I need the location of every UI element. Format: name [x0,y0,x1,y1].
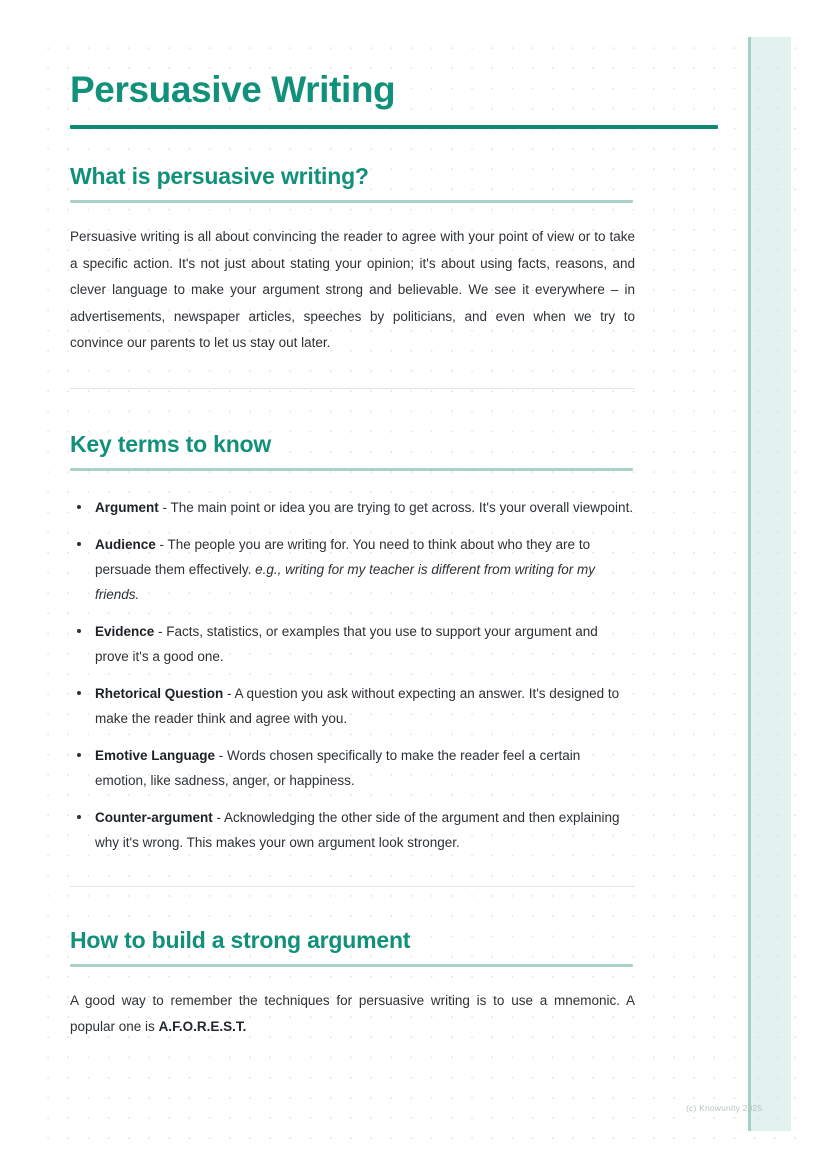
term-dash: - [154,624,166,639]
list-item: Counter-argument - Acknowledging the oth… [70,805,635,855]
document-content: Persuasive Writing What is persuasive wr… [70,68,635,1041]
section-underline-rule-key-terms [70,468,633,471]
key-terms-list: Argument - The main point or idea you ar… [70,495,635,855]
bullet-dot-icon [77,691,81,695]
section-heading-key-terms: Key terms to know [70,429,635,459]
section-divider-1 [70,388,635,389]
paragraph-what-is: Persuasive writing is all about convinci… [70,224,635,357]
term-name: Rhetorical Question [95,686,223,701]
list-item: Audience - The people you are writing fo… [70,532,635,607]
right-decorative-band [748,37,791,1131]
paragraph-how-to-build: A good way to remember the techniques fo… [70,988,635,1041]
term-name: Argument [95,500,159,515]
term-dash: - [156,537,168,552]
section-underline-rule-what-is [70,200,633,203]
term-dash: - [223,686,234,701]
section-what-is-persuasive-writing: What is persuasive writing? Persuasive w… [70,161,635,357]
section-how-to-build: How to build a strong argument A good wa… [70,925,635,1041]
mnemonic-acronym: A.F.O.R.E.S.T. [159,1019,247,1034]
section-key-terms: Key terms to know Argument - The main po… [70,429,635,855]
list-item: Argument - The main point or idea you ar… [70,495,635,520]
bullet-dot-icon [77,505,81,509]
term-dash: - [213,810,224,825]
bullet-dot-icon [77,629,81,633]
section-underline-rule-how-to-build [70,964,633,967]
bullet-dot-icon [77,542,81,546]
term-definition: Facts, statistics, or examples that you … [95,624,598,664]
footer-watermark: (c) Knowunity 2025 [686,1103,762,1114]
list-item: Evidence - Facts, statistics, or example… [70,619,635,669]
term-name: Evidence [95,624,154,639]
title-underline-rule [70,125,718,129]
term-dash: - [215,748,227,763]
term-name: Emotive Language [95,748,215,763]
paragraph-how-to-build-lead: A good way to remember the techniques fo… [70,993,635,1035]
bullet-dot-icon [77,815,81,819]
section-divider-2 [70,886,635,887]
term-name: Counter-argument [95,810,213,825]
right-band-dot-grid [748,37,791,1131]
right-band-edge-rule [748,37,751,1131]
term-name: Audience [95,537,156,552]
bullet-dot-icon [77,753,81,757]
document-page: Persuasive Writing What is persuasive wr… [0,0,828,1171]
section-heading-what-is: What is persuasive writing? [70,161,635,191]
list-item: Emotive Language - Words chosen specific… [70,743,635,793]
section-heading-how-to-build: How to build a strong argument [70,925,635,955]
list-item: Rhetorical Question - A question you ask… [70,681,635,731]
term-dash: - [159,500,171,515]
term-definition: The main point or idea you are trying to… [171,500,634,515]
page-title: Persuasive Writing [70,68,635,112]
